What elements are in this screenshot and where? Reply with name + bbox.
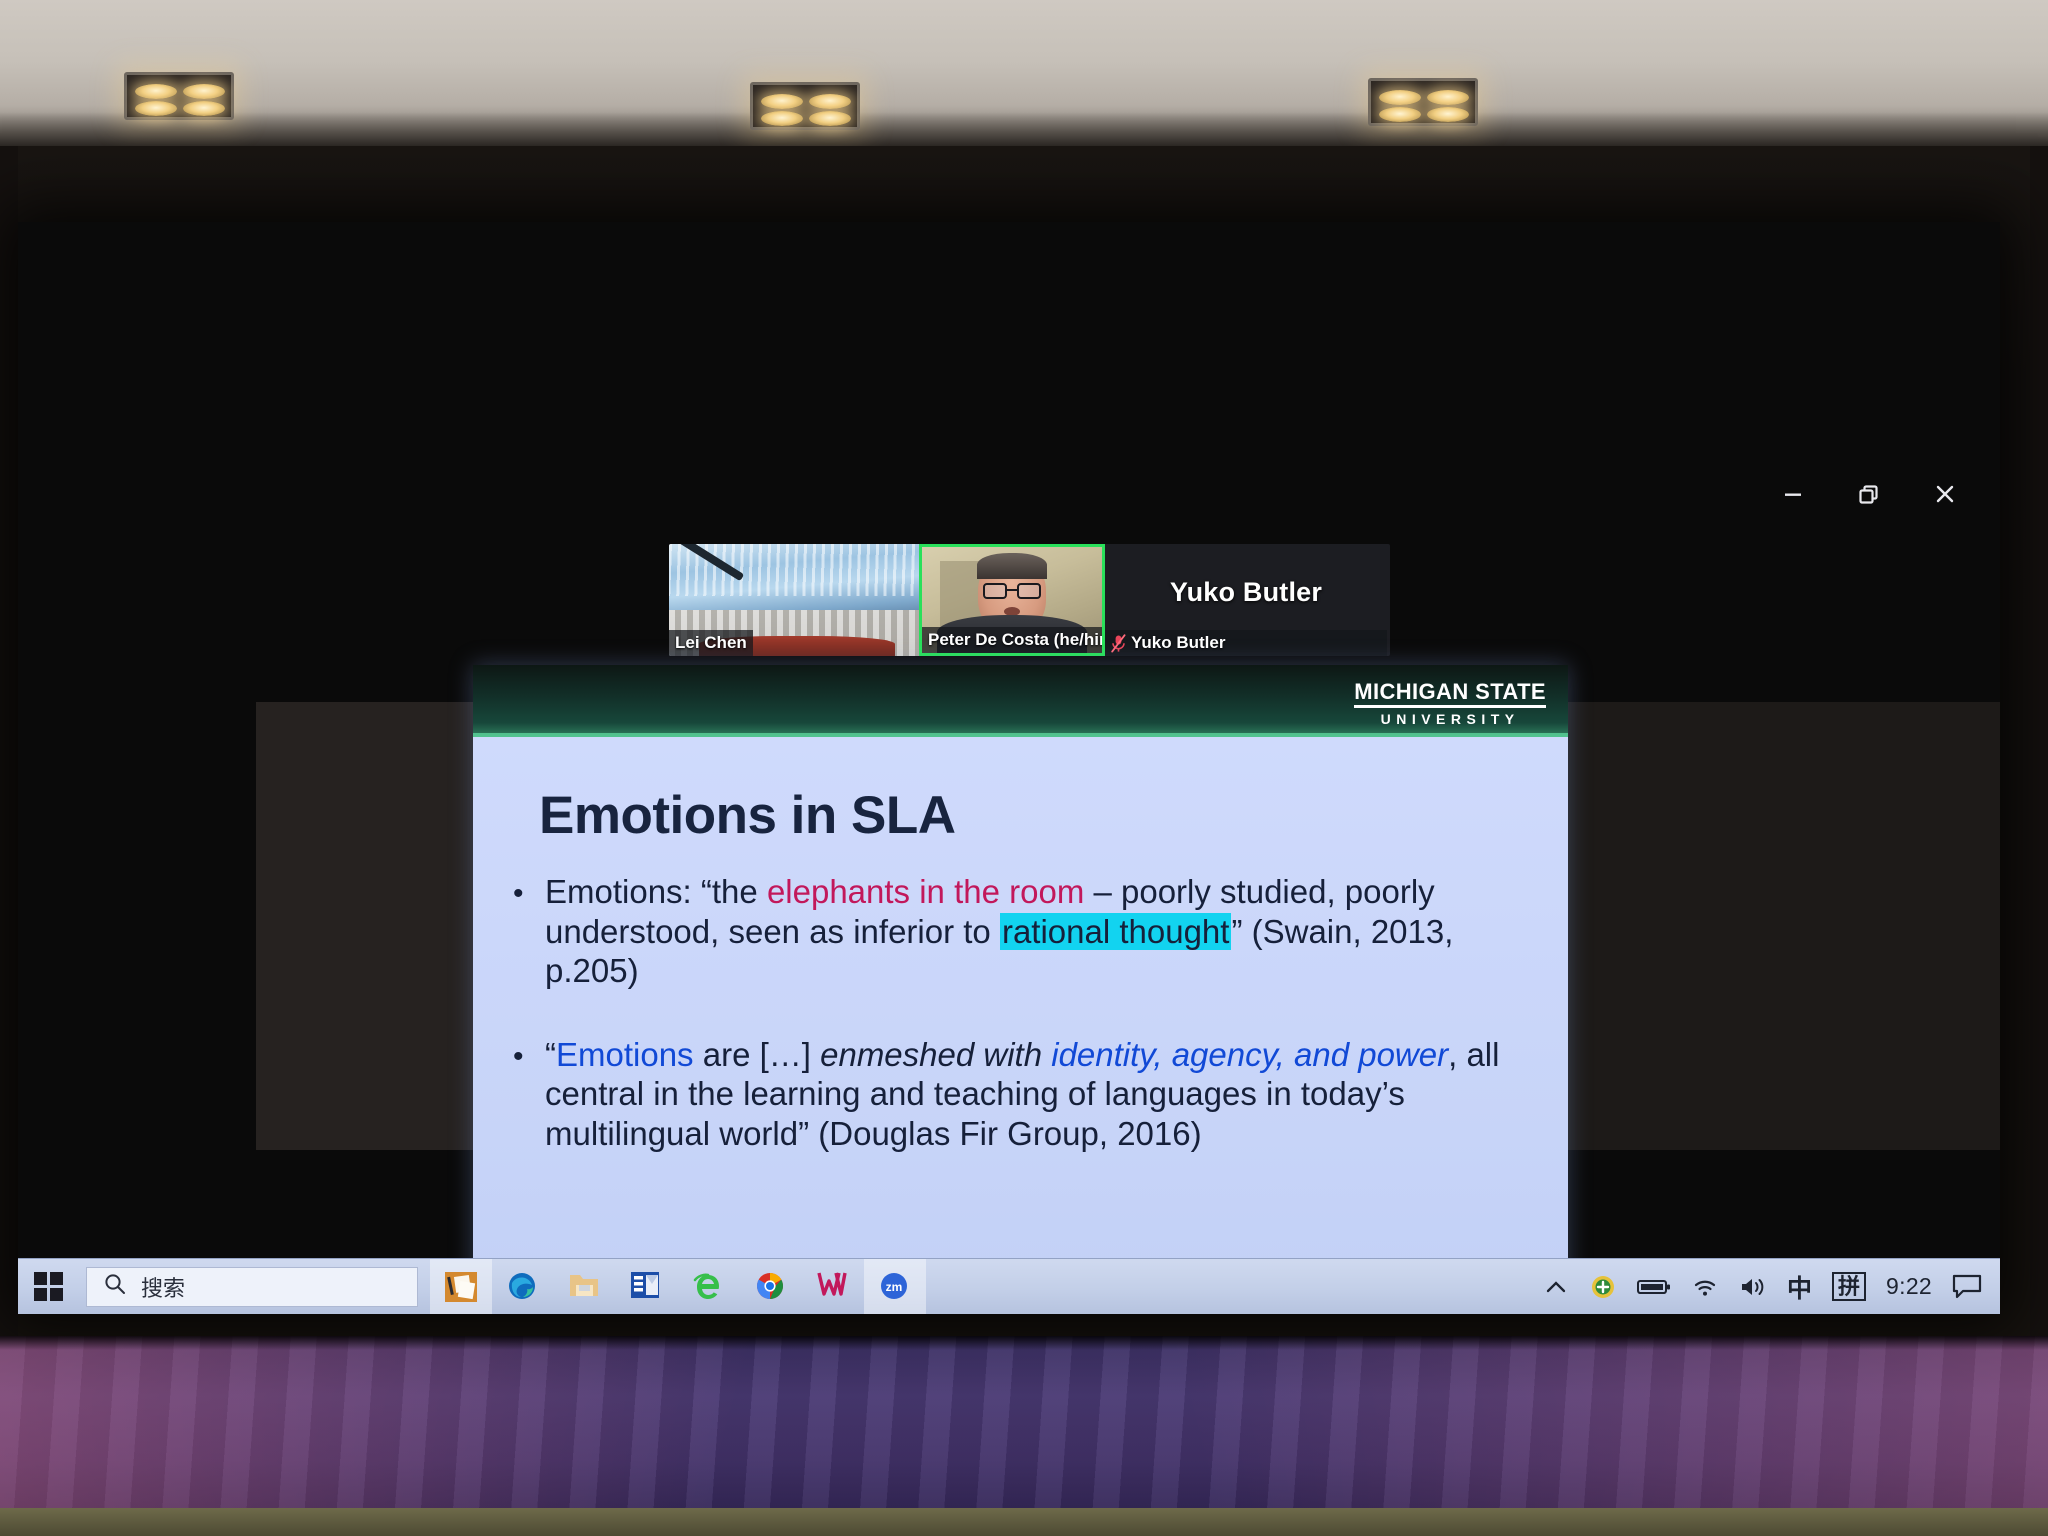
bullet-segment: are […] — [694, 1036, 821, 1073]
windows-taskbar[interactable]: 搜索 — [18, 1258, 2000, 1314]
projected-screen: Lei Chen Peter De Costa (he/him/hi... — [18, 222, 2000, 1314]
bullet-marker: • — [513, 1035, 525, 1154]
window-controls[interactable] — [1776, 477, 1962, 511]
bullet-segment: “ — [545, 1036, 556, 1073]
zoom-icon: zm — [878, 1270, 912, 1304]
taskbar-pinned-apps[interactable]: zm — [430, 1259, 926, 1315]
bullet-segment: Emotions: “the — [545, 873, 767, 910]
muted-microphone-icon — [1111, 634, 1126, 653]
participant-tile-yuko-butler[interactable]: Yuko Butler Yuko Butler — [1105, 544, 1387, 656]
powerpoint-slide[interactable]: MICHIGAN STATE UNIVERSITY Emotions in SL… — [473, 665, 1568, 1314]
taskbar-item-powerpoint[interactable] — [616, 1259, 678, 1315]
bullet-segment-italic: enmeshed with — [820, 1036, 1051, 1073]
security-shield-icon[interactable] — [1589, 1259, 1617, 1315]
slide-bullet-item: • Emotions: “the elephants in the room –… — [513, 872, 1523, 991]
svg-text:zm: zm — [886, 1280, 903, 1294]
start-button[interactable] — [18, 1259, 78, 1315]
taskbar-item-zoom[interactable]: zm — [864, 1259, 926, 1315]
taskbar-item-chrome[interactable] — [740, 1259, 802, 1315]
file-explorer-icon — [568, 1270, 602, 1304]
participant-label: Lei Chen — [675, 633, 747, 653]
participant-label: Peter De Costa (he/him/hi... — [928, 630, 1105, 650]
close-icon[interactable] — [1928, 477, 1962, 511]
taskbar-item-wps-office[interactable] — [802, 1259, 864, 1315]
zoom-window: Lei Chen Peter De Costa (he/him/hi... — [18, 222, 2000, 1314]
ceiling-light — [750, 82, 860, 130]
slide-header-bar: MICHIGAN STATE UNIVERSITY — [473, 665, 1568, 737]
floor — [0, 1508, 2048, 1536]
ceiling-light — [124, 72, 234, 120]
participant-filmstrip[interactable]: Lei Chen Peter De Costa (he/him/hi... — [669, 544, 1390, 656]
restore-icon[interactable] — [1852, 477, 1886, 511]
search-input[interactable]: 搜索 — [86, 1267, 418, 1307]
bullet-segment-highlight-blue: Emotions — [556, 1036, 694, 1073]
battery-icon[interactable] — [1637, 1259, 1671, 1315]
participant-tile-lei-chen[interactable]: Lei Chen — [669, 544, 919, 656]
bullet-text: Emotions: “the elephants in the room – p… — [545, 872, 1523, 991]
msu-logo-line1: MICHIGAN STATE — [1354, 681, 1546, 708]
participant-tile-peter-de-costa[interactable]: Peter De Costa (he/him/hi... — [919, 544, 1105, 656]
slide-bullet-item: • “Emotions are […] enmeshed with identi… — [513, 1035, 1523, 1154]
participant-display-name: Yuko Butler — [1170, 577, 1322, 608]
bullet-segment-highlight-cyan: rational thought — [1000, 913, 1232, 950]
participant-label: Yuko Butler — [1131, 633, 1225, 653]
wps-office-icon — [816, 1270, 850, 1304]
ime-pinyin-label: 拼 — [1832, 1272, 1866, 1301]
internet-explorer-icon — [692, 1270, 726, 1304]
slide-title: Emotions in SLA — [539, 785, 956, 846]
taskbar-item-sticky-notes[interactable] — [430, 1259, 492, 1315]
sticky-notes-icon — [444, 1270, 478, 1304]
notifications-icon[interactable] — [1952, 1259, 1982, 1315]
windows-logo-icon — [34, 1272, 63, 1301]
taskbar-item-microsoft-edge[interactable] — [492, 1259, 554, 1315]
taskbar-clock[interactable]: 9:22 — [1886, 1259, 1932, 1315]
wifi-icon[interactable] — [1691, 1259, 1719, 1315]
msu-logo: MICHIGAN STATE UNIVERSITY — [1354, 681, 1546, 726]
msu-logo-line2: UNIVERSITY — [1354, 712, 1546, 726]
microsoft-edge-icon — [506, 1270, 540, 1304]
taskbar-item-internet-explorer[interactable] — [678, 1259, 740, 1315]
taskbar-item-file-explorer[interactable] — [554, 1259, 616, 1315]
ime-mode-indicator[interactable]: 中 — [1787, 1259, 1812, 1315]
bullet-segment-highlight-red: elephants in the room — [767, 873, 1084, 910]
room-wall-right — [2030, 146, 2048, 1536]
system-tray[interactable]: 中 拼 9:22 — [1543, 1259, 2000, 1315]
participant-name-badge: Lei Chen — [669, 630, 753, 656]
bullet-text: “Emotions are […] enmeshed with identity… — [545, 1035, 1523, 1154]
powerpoint-icon — [630, 1270, 664, 1304]
slide-body: Emotions in SLA • Emotions: “the elephan… — [473, 737, 1568, 1314]
participant-name-badge: Peter De Costa (he/him/hi... — [922, 627, 1102, 653]
slide-bullet-list: • Emotions: “the elephants in the room –… — [513, 872, 1523, 1198]
bullet-segment-italic-blue: identity, agency, and power — [1051, 1036, 1448, 1073]
minimize-icon[interactable] — [1776, 477, 1810, 511]
room-wall-left — [0, 146, 18, 1536]
volume-icon[interactable] — [1739, 1259, 1767, 1315]
ceiling-light — [1368, 78, 1478, 126]
conference-room-photo: Lei Chen Peter De Costa (he/him/hi... — [0, 0, 2048, 1536]
bullet-marker: • — [513, 872, 525, 991]
search-placeholder: 搜索 — [141, 1271, 185, 1303]
ime-pinyin-indicator[interactable]: 拼 — [1832, 1259, 1866, 1315]
participant-name-badge: Yuko Butler — [1105, 630, 1387, 656]
chrome-icon — [754, 1270, 788, 1304]
search-icon — [103, 1272, 127, 1302]
stage-curtain — [0, 1336, 2048, 1536]
show-hidden-icons-chevron-icon[interactable] — [1543, 1259, 1569, 1315]
